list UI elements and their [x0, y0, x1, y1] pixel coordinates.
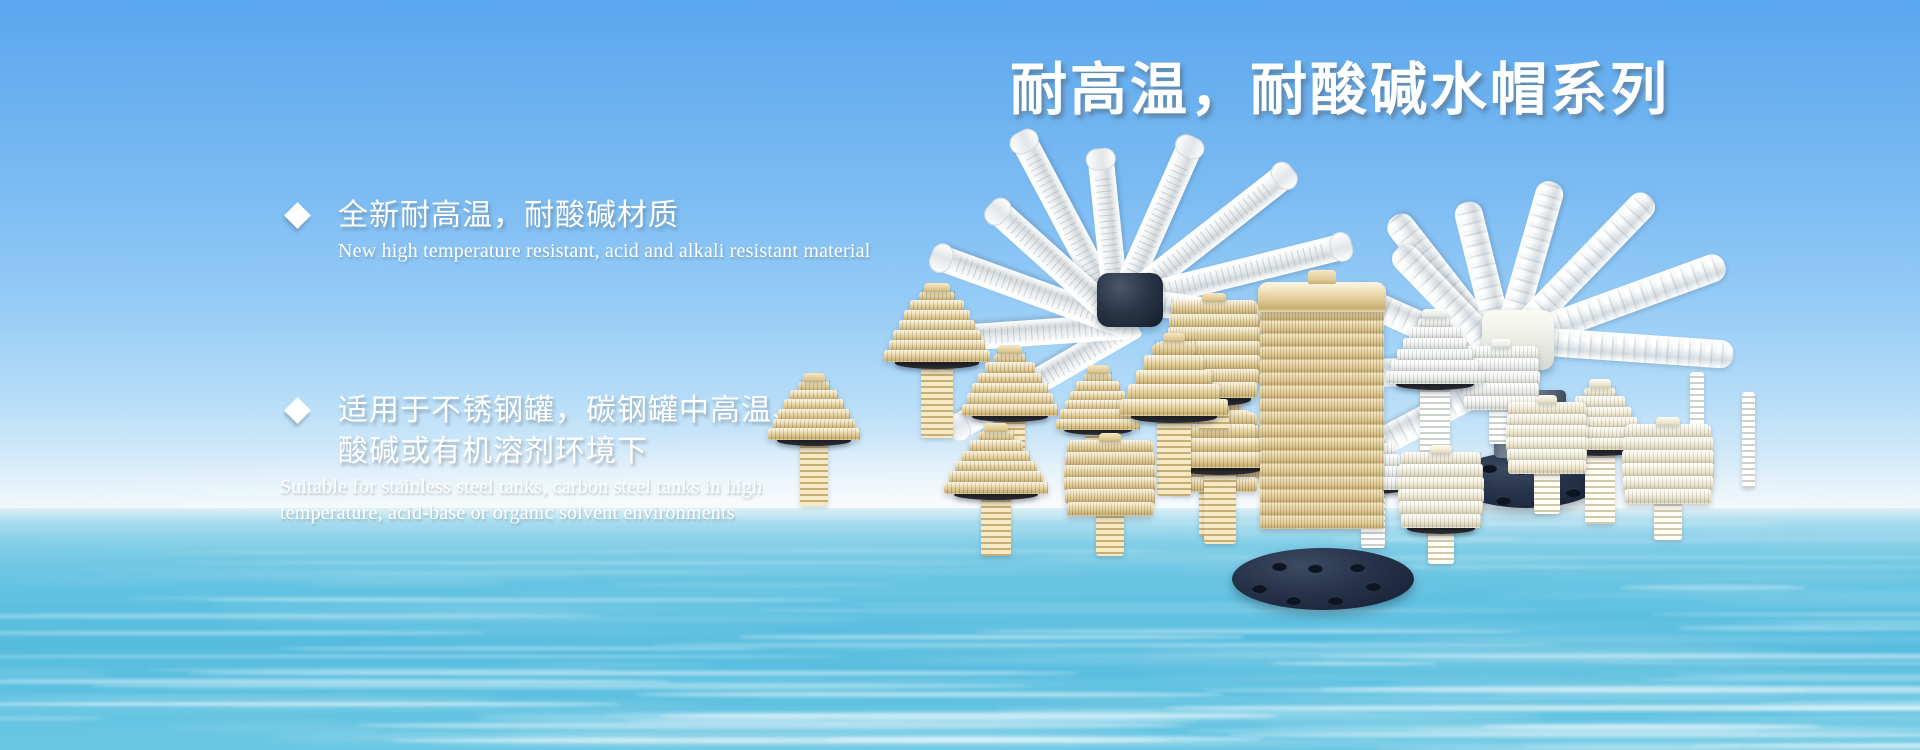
highlight [1168, 452, 1272, 468]
highlight [1152, 340, 1195, 357]
page-title: 耐高温，耐酸碱水帽系列 [1010, 58, 1670, 123]
nozzle-tier [1171, 382, 1257, 398]
nozzle-ribs [1067, 440, 1153, 454]
flange-bolt-hole [1496, 496, 1511, 505]
nozzle-tier [1084, 372, 1113, 383]
highlight [1056, 419, 1140, 430]
nozzle-tier [1568, 407, 1632, 419]
nozzle-ribs [1391, 360, 1479, 373]
nozzle-ribs [1352, 443, 1394, 456]
nozzle-tier [1070, 391, 1126, 402]
nozzle-ribs [1128, 384, 1220, 401]
filter-disc-ribs [1260, 334, 1384, 347]
nozzle-ribs [1336, 477, 1410, 490]
highlight [1360, 432, 1385, 445]
lateral-arm [1114, 160, 1299, 313]
nozzle-ribs [1506, 437, 1588, 451]
lateral-arm [1355, 354, 1531, 466]
ball-dome-nozzle-white [1386, 316, 1484, 462]
highlight [1336, 477, 1410, 490]
highlight [1568, 407, 1632, 419]
nozzle-tier [1623, 437, 1713, 452]
highlight [1623, 476, 1713, 491]
nozzle-ribs [1552, 438, 1648, 450]
filter-disc [1260, 373, 1384, 386]
nozzle-ribs [1144, 355, 1203, 372]
nozzle-ribs [1622, 463, 1714, 478]
nozzle-tier [1409, 327, 1461, 340]
highlight [1128, 384, 1220, 401]
nozzle-ribs [1462, 371, 1540, 385]
conical-ribbed-nozzle-beige [1120, 340, 1228, 498]
nozzle-tier [1064, 465, 1156, 479]
filter-disc-ribs [1260, 308, 1384, 321]
nozzle-tier [1398, 477, 1484, 491]
highlight [1060, 409, 1135, 420]
highlight [1507, 414, 1587, 428]
nozzle-tier [1076, 381, 1120, 392]
lateral-arm [1008, 128, 1130, 326]
filter-disc-ribs [1260, 373, 1384, 386]
nozzle-ribs [1199, 396, 1241, 412]
nozzle-tier [1171, 412, 1257, 427]
filter-disc [1260, 399, 1384, 412]
highlight [1176, 438, 1264, 454]
highlight [1506, 437, 1588, 451]
filter-disc-ribs [1260, 490, 1384, 503]
arm-slots [1147, 294, 1321, 334]
nozzle-tier [1418, 316, 1451, 329]
arm-slots [1095, 175, 1124, 299]
top-cap [1422, 309, 1448, 318]
nozzle-tier [1557, 427, 1643, 439]
feature-item-2: 适用于不锈钢罐，碳钢罐中高温、 酸碱或有机溶剂环境下 Suitable for … [280, 391, 1000, 525]
nozzle-tier [1169, 464, 1259, 479]
highlight [1169, 314, 1258, 330]
nozzle-tier [1169, 425, 1259, 440]
lateral-arm [1387, 239, 1518, 374]
flange-bolt-hole [1552, 465, 1567, 474]
nozzle-ribs [1557, 427, 1643, 439]
nozzle-tier [1352, 443, 1394, 456]
nozzle-tier [1168, 327, 1259, 343]
nozzle-tier [1065, 452, 1155, 466]
filter-disc [1260, 490, 1384, 503]
nozzle-ribs [1403, 338, 1468, 351]
nozzle-ribs [1464, 346, 1537, 360]
feature-2-cn-line-1: 适用于不锈钢罐，碳钢罐中高温、 [280, 391, 1000, 432]
lateral-arm [1130, 287, 1347, 343]
nozzle-tier [1506, 425, 1588, 439]
short-stacked-disc-nozzle-cream [1506, 402, 1588, 516]
nozzle-ribs [1191, 410, 1248, 426]
nozzle-ribs [1386, 371, 1484, 384]
highlight [1346, 454, 1400, 467]
nozzle-tier [1507, 449, 1587, 463]
ball-dome-nozzle-white [1552, 386, 1648, 526]
highlight [1171, 300, 1257, 316]
nozzle-ribs [1169, 314, 1258, 330]
nozzle-tier [1191, 410, 1248, 426]
nozzle-ribs [1171, 382, 1257, 398]
filter-disc-ribs [1260, 438, 1384, 451]
flange-base-navy [1452, 452, 1602, 508]
highlight [1398, 477, 1484, 491]
nozzle-tier [1144, 355, 1203, 372]
highlight [1398, 489, 1484, 503]
highlight [1584, 386, 1617, 398]
top-cap [1210, 389, 1230, 398]
highlight [1397, 349, 1474, 362]
filter-disc [1260, 386, 1384, 399]
nozzle-tier [1622, 450, 1714, 465]
nozzle-ribs [1168, 438, 1260, 453]
nozzle-ribs [1120, 399, 1228, 416]
highlight [1067, 440, 1153, 454]
filter-disc [1260, 464, 1384, 477]
highlight [1191, 410, 1248, 426]
water-surface [0, 508, 1920, 750]
highlight [1144, 355, 1203, 372]
nozzle-ribs [1360, 432, 1385, 445]
highlight [1341, 466, 1405, 479]
highlight [1352, 443, 1394, 456]
highlight [1120, 399, 1228, 416]
nozzle-tier [1056, 419, 1140, 430]
arm-slots [1117, 159, 1190, 296]
highlight [1506, 425, 1588, 439]
nozzle-ribs [1622, 450, 1714, 465]
filter-disc [1260, 412, 1384, 425]
nozzle-ribs [1584, 386, 1617, 398]
highlight [1168, 341, 1260, 357]
nozzle-ribs [1168, 327, 1259, 343]
highlight [1084, 372, 1113, 383]
nozzle-tier [1168, 355, 1259, 371]
nozzle-tier [1199, 396, 1241, 412]
nozzle-tier [1562, 417, 1637, 429]
nozzle-ribs [1346, 454, 1400, 467]
filter-disc [1260, 425, 1384, 438]
filter-disc [1260, 321, 1384, 334]
nozzle-ribs [1065, 400, 1131, 411]
nozzle-tier [1399, 464, 1483, 478]
top-cap [1537, 395, 1557, 404]
nozzle-tier [1401, 452, 1482, 466]
nozzle-ribs [1136, 370, 1212, 387]
nozzle-ribs [1168, 452, 1272, 468]
top-cap [1656, 417, 1680, 426]
nozzle-tier [1341, 466, 1405, 479]
highlight [1507, 449, 1587, 463]
nozzle-ribs [1341, 466, 1405, 479]
nozzle-tier [1168, 438, 1260, 453]
highlight [1064, 465, 1156, 479]
nozzle-ribs [1398, 477, 1484, 491]
filter-disc [1260, 438, 1384, 451]
nozzle-ribs [1152, 340, 1195, 357]
filter-top-plate [1258, 282, 1386, 312]
top-cap [1205, 405, 1223, 414]
lateral-arm [1124, 232, 1353, 313]
nozzle-ribs [1568, 407, 1632, 419]
top-cap [1202, 293, 1226, 302]
top-cap [1087, 365, 1109, 374]
highlight [1169, 464, 1259, 479]
nozzle-tier [1463, 383, 1540, 397]
filter-disc [1260, 477, 1384, 490]
nozzle-ribs [1575, 396, 1626, 408]
nozzle-ribs [1171, 412, 1257, 427]
nozzle-tier [1622, 463, 1714, 478]
nozzle-ribs [1418, 316, 1451, 329]
highlight [1622, 450, 1714, 465]
filter-disc-ribs [1260, 347, 1384, 360]
nozzle-ribs [1060, 409, 1135, 420]
flange-bolt-hole [1468, 486, 1483, 495]
rubber-gasket [1178, 462, 1261, 475]
highlight [1462, 371, 1540, 385]
lateral-arm [1452, 199, 1518, 361]
highlight [1070, 391, 1126, 402]
nozzle-tier [1169, 314, 1258, 330]
nozzle-tier [1625, 489, 1711, 504]
threaded-stem [1085, 426, 1111, 490]
nozzle-ribs [1065, 489, 1155, 503]
lateral-arm [1318, 354, 1519, 389]
nozzle-tier [1386, 371, 1484, 384]
threaded-stem [1489, 406, 1513, 444]
highlight [1386, 371, 1484, 384]
highlight [1508, 402, 1585, 416]
water-ripples [0, 508, 1920, 750]
highlight [1508, 460, 1585, 474]
highlight [1575, 396, 1626, 408]
highlight [1403, 338, 1468, 351]
nozzle-ribs [1507, 414, 1587, 428]
lateral-arm [983, 196, 1130, 332]
feature-list: 全新耐高温，耐酸碱材质 New high temperature resista… [280, 196, 1000, 526]
promotional-banner: 耐高温，耐酸碱水帽系列 全新耐高温，耐酸碱材质 New high tempera… [0, 0, 1920, 750]
feature-item-1: 全新耐高温，耐酸碱材质 New high temperature resista… [280, 196, 1000, 263]
lateral-arm [1087, 149, 1130, 316]
nozzle-tier [1168, 452, 1272, 468]
rubber-gasket [1562, 444, 1639, 456]
highlight [1464, 396, 1537, 410]
filter-disc [1260, 334, 1384, 347]
lateral-arm [1498, 187, 1661, 354]
feature-2-cn-line-2: 酸碱或有机溶剂环境下 [280, 432, 1000, 473]
nozzle-ribs [1625, 424, 1711, 439]
flange-bolt-hole [1532, 498, 1547, 507]
flange-bolt-hole [1566, 488, 1581, 497]
nozzle-tier [1403, 338, 1468, 351]
filter-disc-ribs [1260, 321, 1384, 334]
highlight [1552, 438, 1648, 450]
feature-1-cn-line-1: 全新耐高温，耐酸碱材质 [338, 196, 1000, 237]
nozzle-tier [1625, 424, 1711, 439]
highlight [1625, 424, 1711, 439]
flange-bolt-hole [1482, 464, 1497, 473]
highlight [1076, 381, 1120, 392]
threaded-stem [1199, 394, 1229, 430]
highlight [1168, 355, 1259, 371]
stepped-dome-nozzle-beige [1056, 372, 1140, 492]
diamond-marker-icon [284, 202, 311, 229]
loose-slotted-stem [1690, 372, 1704, 482]
nozzle-ribs [1064, 477, 1156, 491]
highlight [1169, 425, 1259, 440]
nozzle-tier [1168, 341, 1260, 357]
filter-disc [1260, 360, 1384, 373]
star-hub [1097, 273, 1163, 327]
filter-disc [1260, 451, 1384, 464]
highlight [1625, 489, 1711, 504]
nozzle-tier [1065, 400, 1131, 411]
nozzle-ribs [1623, 437, 1713, 452]
filter-disc-ribs [1260, 360, 1384, 373]
highlight [1464, 346, 1537, 360]
top-cap [1589, 379, 1611, 388]
nozzle-ribs [1184, 424, 1257, 440]
filter-disc [1260, 347, 1384, 360]
nozzle-tier [1171, 477, 1257, 492]
nozzle-ribs [1562, 417, 1637, 429]
nozzle-tier [1128, 384, 1220, 401]
nozzle-tier [1463, 358, 1540, 372]
lateral-arm [1106, 133, 1205, 313]
nozzle-ribs [1463, 383, 1540, 397]
top-cap [1430, 445, 1452, 454]
lateral-arm [1382, 208, 1518, 371]
filter-disc-ribs [1260, 464, 1384, 477]
lateral-arm [1342, 281, 1518, 380]
highlight [1623, 437, 1713, 452]
nozzle-tier [1336, 477, 1410, 490]
nozzle-ribs [1168, 341, 1260, 357]
nozzle-tier [1462, 371, 1540, 385]
highlight [1064, 477, 1156, 491]
highlight [1136, 370, 1212, 387]
nozzle-ribs [1168, 451, 1260, 466]
nozzle-tier [1508, 402, 1585, 416]
arm-slots [1140, 243, 1326, 304]
nozzle-tier [1064, 477, 1156, 491]
top-cap [998, 345, 1022, 354]
rubber-gasket [1064, 424, 1131, 435]
threaded-stem [1157, 412, 1191, 496]
nozzle-tier [1584, 386, 1617, 398]
highlight [1168, 327, 1259, 343]
highlight [1065, 452, 1155, 466]
nozzle-ribs [1507, 449, 1587, 463]
arm-slots [1005, 217, 1115, 318]
highlight [1169, 369, 1258, 385]
nozzle-ribs [1169, 464, 1259, 479]
nozzle-tier [1060, 409, 1135, 420]
nozzle-ribs [1464, 396, 1537, 410]
nozzle-tier [1067, 440, 1153, 454]
nozzle-tier [1136, 370, 1212, 387]
rubber-gasket [1131, 410, 1217, 423]
top-cap [1099, 433, 1121, 442]
top-cap [1163, 333, 1185, 342]
nozzle-tier [1120, 399, 1228, 416]
nozzle-ribs [1399, 464, 1483, 478]
filter-disc-ribs [1260, 425, 1384, 438]
nozzle-tier [1171, 300, 1257, 316]
nozzle-ribs [1176, 438, 1264, 454]
nozzle-ribs [1397, 349, 1474, 362]
nozzle-ribs [1508, 402, 1585, 416]
highlight [1463, 358, 1540, 372]
lateral-arm [1518, 326, 1734, 369]
highlight [1258, 282, 1386, 312]
highlight [1065, 400, 1131, 411]
highlight [1171, 412, 1257, 427]
filter-disc-ribs [1260, 451, 1384, 464]
highlight [1409, 327, 1461, 340]
highlight [1399, 464, 1483, 478]
nozzle-ribs [1084, 372, 1113, 383]
flange-bolt-hole [1514, 466, 1529, 475]
filter-disc-ribs [1260, 386, 1384, 399]
short-stacked-disc-nozzle-white [1462, 346, 1540, 446]
nozzle-ribs [1065, 452, 1155, 466]
nozzle-tier [1464, 346, 1537, 360]
feature-2-en-line-2: temperature, acid-base or organic solven… [280, 501, 1000, 525]
highlight [1065, 489, 1155, 503]
nozzle-tier [1184, 424, 1257, 440]
nozzle-tier [1397, 349, 1474, 362]
nozzle-tier [1575, 396, 1626, 408]
nozzle-tier [1464, 396, 1537, 410]
highlight [1171, 477, 1257, 492]
nozzle-ribs [1064, 465, 1156, 479]
lateral-arm [1491, 178, 1566, 354]
highlight [1557, 427, 1643, 439]
nozzle-ribs [1168, 355, 1259, 371]
rubber-gasket [1177, 392, 1251, 406]
nozzle-tier [1346, 454, 1400, 467]
nozzle-ribs [1056, 419, 1140, 430]
nozzle-tier [1508, 460, 1585, 474]
nozzle-tier [1168, 451, 1260, 466]
nozzle-ribs [1169, 425, 1259, 440]
highlight [1622, 463, 1714, 478]
nozzle-ribs [1625, 489, 1711, 504]
highlight [1171, 382, 1257, 398]
nozzle-tier [1506, 437, 1588, 451]
filter-disc [1260, 308, 1384, 321]
arm-slots [1025, 153, 1118, 309]
nozzle-ribs [1463, 358, 1540, 372]
highlight [1463, 383, 1540, 397]
nozzle-ribs [1508, 460, 1585, 474]
feature-2-en-line-1: Suitable for stainless steel tanks, carb… [280, 475, 1000, 499]
feature-1-en-line-1: New high temperature resistant, acid and… [338, 239, 1000, 263]
nozzle-tier [1398, 489, 1484, 503]
star-hub [1482, 310, 1554, 369]
highlight [1562, 417, 1637, 429]
filter-disc-ribs [1260, 477, 1384, 490]
nozzle-ribs [1506, 425, 1588, 439]
highlight [1168, 438, 1260, 453]
nozzle-tier [1360, 432, 1385, 445]
nozzle-ribs [1623, 476, 1713, 491]
arm-slots [1130, 180, 1276, 299]
nozzle-ribs [1409, 327, 1461, 340]
